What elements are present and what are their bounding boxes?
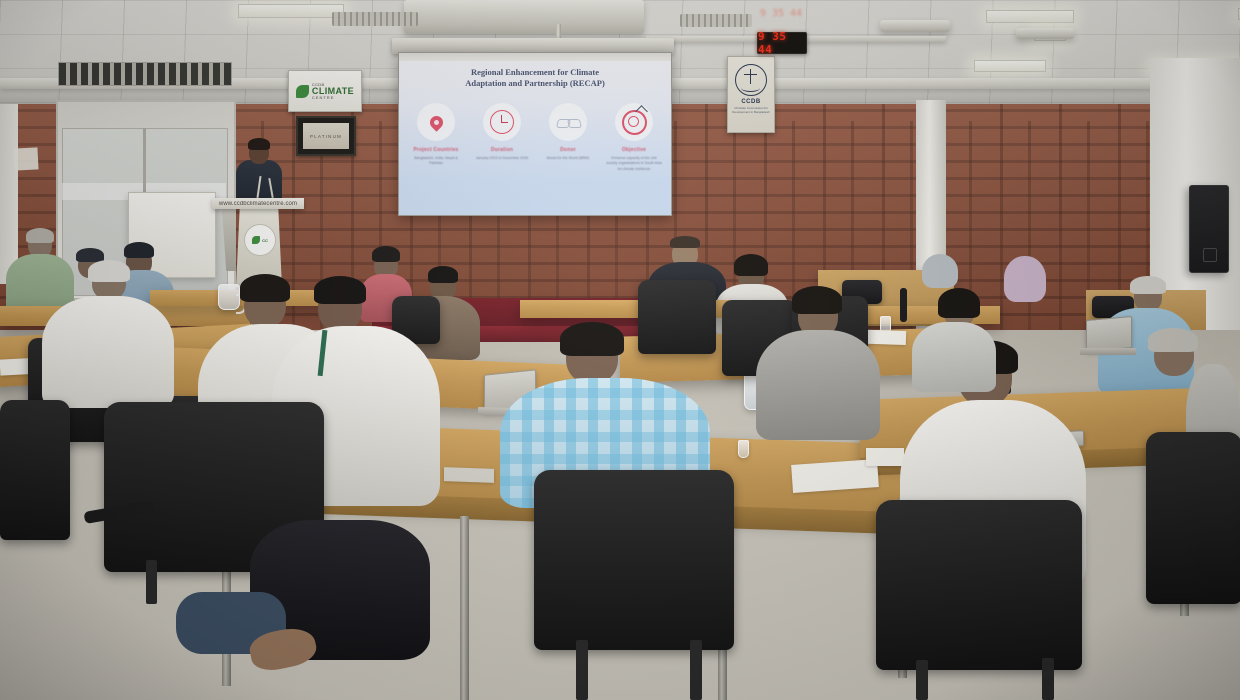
slide-column-heading: Donor	[537, 147, 599, 153]
conference-chair[interactable]	[638, 280, 716, 354]
participant-hair	[938, 288, 980, 318]
conference-chair[interactable]	[0, 400, 70, 540]
slide-title-line-1: Regional Enhancement for Climate	[407, 67, 663, 78]
poster-org-name: CCDB	[741, 99, 760, 105]
participant-hair	[670, 236, 700, 248]
projection-screen: Regional Enhancement for Climate Adaptat…	[398, 52, 672, 216]
conference-chair[interactable]	[534, 470, 734, 650]
water-goblet	[726, 410, 738, 430]
podium-url-text: www.ccdbclimatecentre.com	[219, 201, 297, 207]
clock-ceiling-reflection: 9 35 44	[752, 8, 810, 30]
participant-hijab	[922, 254, 958, 288]
wall-sign-ccdb-climate-centre: CCDB CLIMATE CENTRE	[288, 70, 362, 112]
chair-leg	[916, 660, 928, 700]
slide-column-duration: Duration January 2023 to December 2026	[471, 103, 533, 172]
handshake-icon	[549, 103, 587, 141]
chair-leg	[576, 640, 588, 700]
slide-column-donor: Donor Bread for the World (BftW)	[537, 103, 599, 172]
plaque-text: PLATINUM	[310, 134, 342, 139]
slide-column-objective: Objective Enhance capacity of the civil …	[603, 103, 665, 172]
water-goblet	[1046, 340, 1058, 360]
water-goblet	[1076, 384, 1088, 404]
participant-hair	[428, 266, 458, 283]
chair-leg	[146, 560, 157, 604]
participant-hair	[560, 322, 624, 356]
participant-torso	[42, 296, 174, 408]
location-pin-icon	[417, 103, 455, 141]
participant-hijab	[1004, 256, 1046, 302]
participant-torso	[756, 330, 880, 440]
clock-icon	[483, 103, 521, 141]
participant-torso	[912, 322, 996, 392]
participant-hair	[1130, 276, 1166, 294]
slide-column-body: Bread for the World (BftW)	[537, 156, 599, 161]
oikoumene-cross-icon	[735, 64, 767, 96]
document-paper	[866, 448, 904, 466]
presenter-hair	[248, 138, 270, 150]
participant-hair	[1148, 328, 1198, 352]
water-goblet	[206, 282, 218, 302]
conference-chair[interactable]	[876, 500, 1082, 670]
slide-column-body: Bangladesh, India, Nepal & Pakistan	[405, 156, 467, 167]
poster-subtitle: Christian Commission for Development in …	[728, 107, 774, 115]
water-pitcher	[218, 284, 240, 310]
duct-grille	[332, 12, 418, 26]
award-plaque: PLATINUM	[296, 116, 356, 156]
digital-wall-clock: 9 35 44	[757, 32, 807, 54]
wall-paper-scrap	[13, 147, 38, 170]
participant-hair	[240, 274, 290, 302]
slide-column-body: Enhance capacity of the civil society or…	[603, 156, 665, 172]
laptop-screen	[1086, 316, 1132, 352]
left-white-wall	[0, 104, 18, 284]
participant-hair	[88, 260, 130, 282]
duct-grille	[680, 14, 752, 27]
target-icon	[615, 103, 653, 141]
podium-top: www.ccdbclimatecentre.com	[212, 198, 304, 209]
ceiling-duct	[404, 0, 644, 34]
sign-line-3: CENTRE	[312, 96, 354, 100]
slide-columns: Project Countries Bangladesh, India, Nep…	[405, 103, 665, 172]
laptop-keyboard	[1080, 348, 1136, 355]
table-microphone	[900, 288, 907, 322]
slide-title: Regional Enhancement for Climate Adaptat…	[407, 67, 663, 90]
ceiling-light-panel	[238, 4, 344, 18]
podium-logo: CC	[244, 224, 276, 256]
participant-hair	[124, 242, 154, 258]
ceiling-duct	[1016, 28, 1074, 39]
chair-leg	[1042, 658, 1054, 700]
participant-hair	[314, 276, 366, 304]
table-leg	[460, 516, 469, 700]
participant-hair	[734, 254, 768, 276]
leaf-icon	[252, 236, 260, 244]
water-glass	[738, 440, 749, 458]
ceiling-duct	[880, 20, 950, 32]
slide-title-line-2: Adaptation and Partnership (RECAP)	[407, 78, 663, 89]
ceiling-light-panel	[986, 10, 1074, 23]
participant-hair	[792, 286, 842, 314]
ceiling-light-panel	[974, 60, 1046, 72]
conference-chair[interactable]	[1146, 432, 1240, 604]
notebook	[444, 467, 494, 483]
slide-column-heading: Project Countries	[405, 147, 467, 153]
conference-room-photo: CCDB CLIMATE CENTRE PLATINUM CCDB Christ…	[0, 0, 1240, 700]
screen-top-band	[399, 53, 671, 61]
participant-hair	[372, 246, 400, 262]
water-goblet	[452, 390, 464, 410]
clock-time-display: 9 35 44	[758, 30, 806, 56]
slide-column-heading: Objective	[603, 147, 665, 153]
slide-column-body: January 2023 to December 2026	[471, 156, 533, 161]
wall-vent-louvre	[58, 62, 232, 86]
participant-hair	[26, 228, 54, 243]
wall-poster-ccdb: CCDB Christian Commission for Developmen…	[727, 56, 775, 133]
chair-leg	[690, 640, 702, 700]
slide-column-heading: Duration	[471, 147, 533, 153]
wall-speaker	[1189, 185, 1229, 273]
slide-column-project-countries: Project Countries Bangladesh, India, Nep…	[405, 103, 467, 172]
boat-icon	[741, 84, 760, 92]
leaf-icon	[296, 85, 309, 98]
